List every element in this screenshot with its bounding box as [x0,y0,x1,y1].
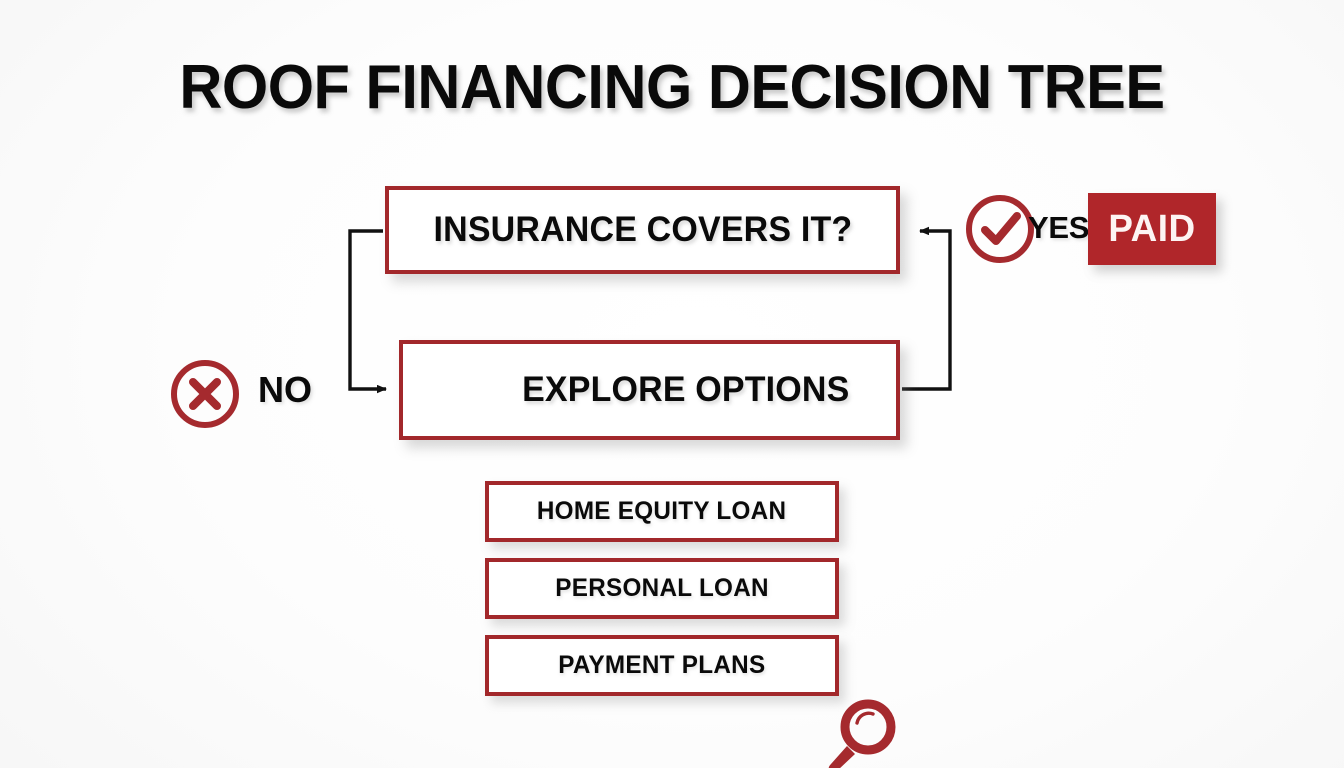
node-explore-label: EXPLORE OPTIONS [522,370,849,410]
branch-label-no: NO [258,369,312,411]
decision-tree-diagram: ROOF FINANCING DECISION TREE INSURANCE C… [0,0,1344,768]
connector-decision-to-explore [350,231,386,389]
magnifier-icon [821,696,903,768]
status-badge-paid[interactable]: PAID [1088,193,1216,265]
option-label: HOME EQUITY LOAN [537,497,786,526]
branch-label-yes: YES [1028,210,1089,246]
connector-explore-to-decision [902,231,950,389]
x-circle-icon [168,357,242,431]
node-insurance-covers-it[interactable]: INSURANCE COVERS IT? [385,186,900,274]
check-circle-icon [963,192,1037,266]
option-home-equity-loan[interactable]: HOME EQUITY LOAN [485,481,839,542]
option-label: PAYMENT PLANS [558,651,765,680]
option-label: PERSONAL LOAN [555,574,769,603]
option-personal-loan[interactable]: PERSONAL LOAN [485,558,839,619]
node-insurance-label: INSURANCE COVERS IT? [433,210,852,250]
page-title: ROOF FINANCING DECISION TREE [27,52,1317,123]
option-payment-plans[interactable]: PAYMENT PLANS [485,635,839,696]
node-explore-options[interactable]: EXPLORE OPTIONS [399,340,900,440]
paid-badge-label: PAID [1108,208,1195,251]
